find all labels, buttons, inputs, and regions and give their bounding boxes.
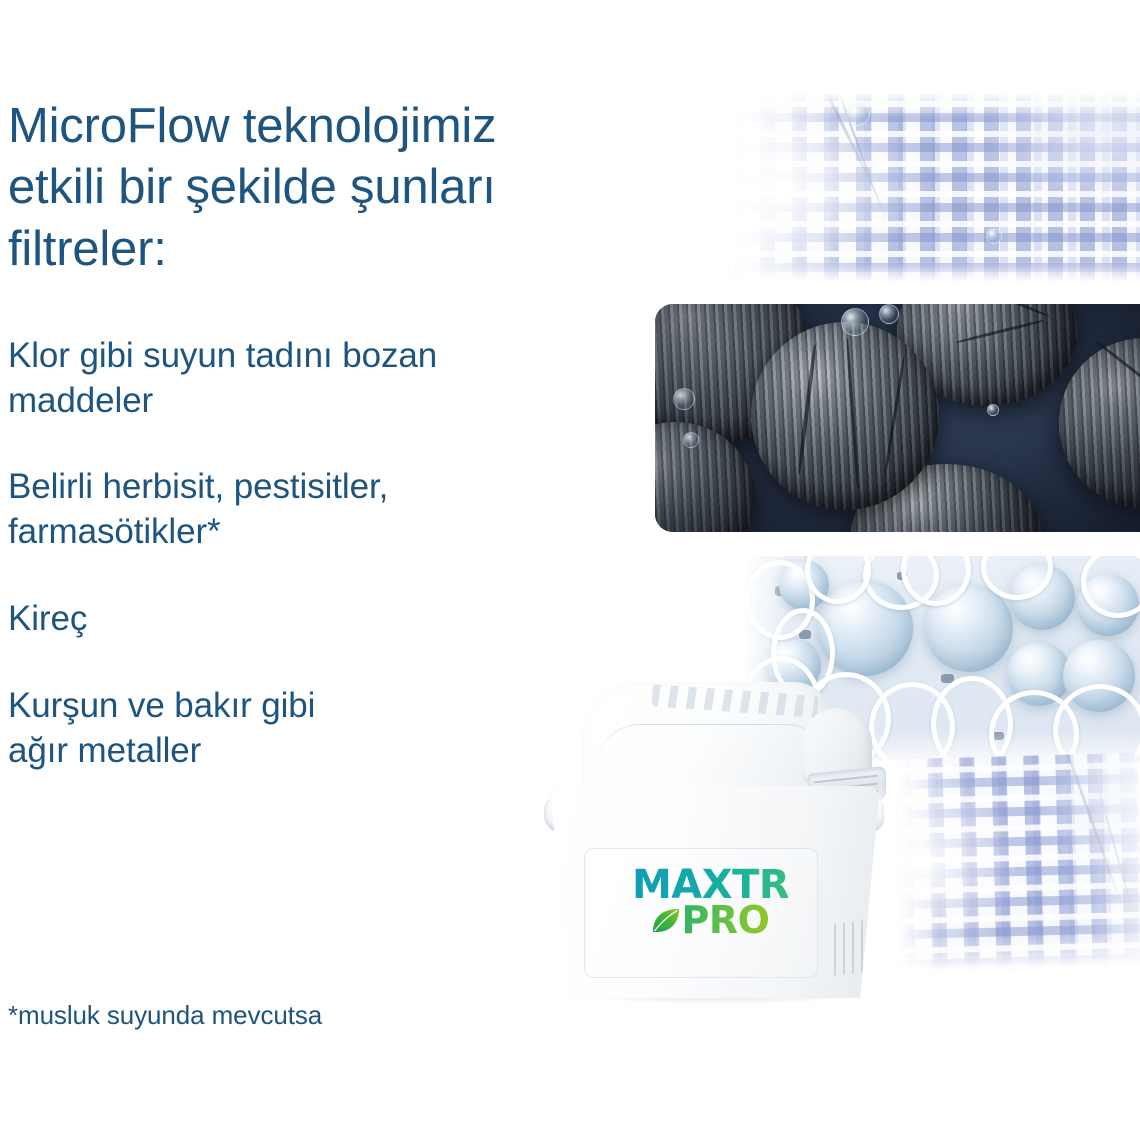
panel-edge-fade bbox=[900, 931, 1140, 971]
leaf-icon bbox=[651, 908, 681, 934]
panel-micro-mesh-membrane bbox=[895, 753, 1140, 971]
page-title: MicroFlow teknolojimiz etkili bir şekild… bbox=[8, 96, 668, 280]
panel-edge-fade bbox=[728, 92, 848, 282]
panel-edge-fade bbox=[728, 260, 1140, 282]
cartridge-vent-slots bbox=[834, 920, 864, 975]
logo-suffix-row: PRO bbox=[632, 902, 788, 938]
panel-micro-mesh-membrane bbox=[728, 92, 1140, 282]
list-item: Kireç bbox=[8, 597, 668, 642]
panel-edge-fade bbox=[728, 92, 1140, 118]
list-item: Belirli herbisit, pestisitler, farmasöti… bbox=[8, 465, 668, 555]
product-feature-graphic: MicroFlow teknolojimiz etkili bir şekild… bbox=[0, 0, 1140, 1140]
logo-suffix-text: PRO bbox=[682, 902, 770, 938]
footnote: *musluk suyunda mevcutsa bbox=[8, 1000, 322, 1031]
panel-activated-carbon-granules bbox=[655, 304, 1140, 532]
panel-vignette bbox=[655, 304, 1140, 532]
list-item: Klor gibi suyun tadını bozan maddeler bbox=[8, 334, 668, 424]
maxtra-pro-filter-cartridge: MAXTRA PRO bbox=[536, 668, 920, 1000]
maxtra-pro-logo: MAXTRA PRO bbox=[632, 866, 788, 939]
